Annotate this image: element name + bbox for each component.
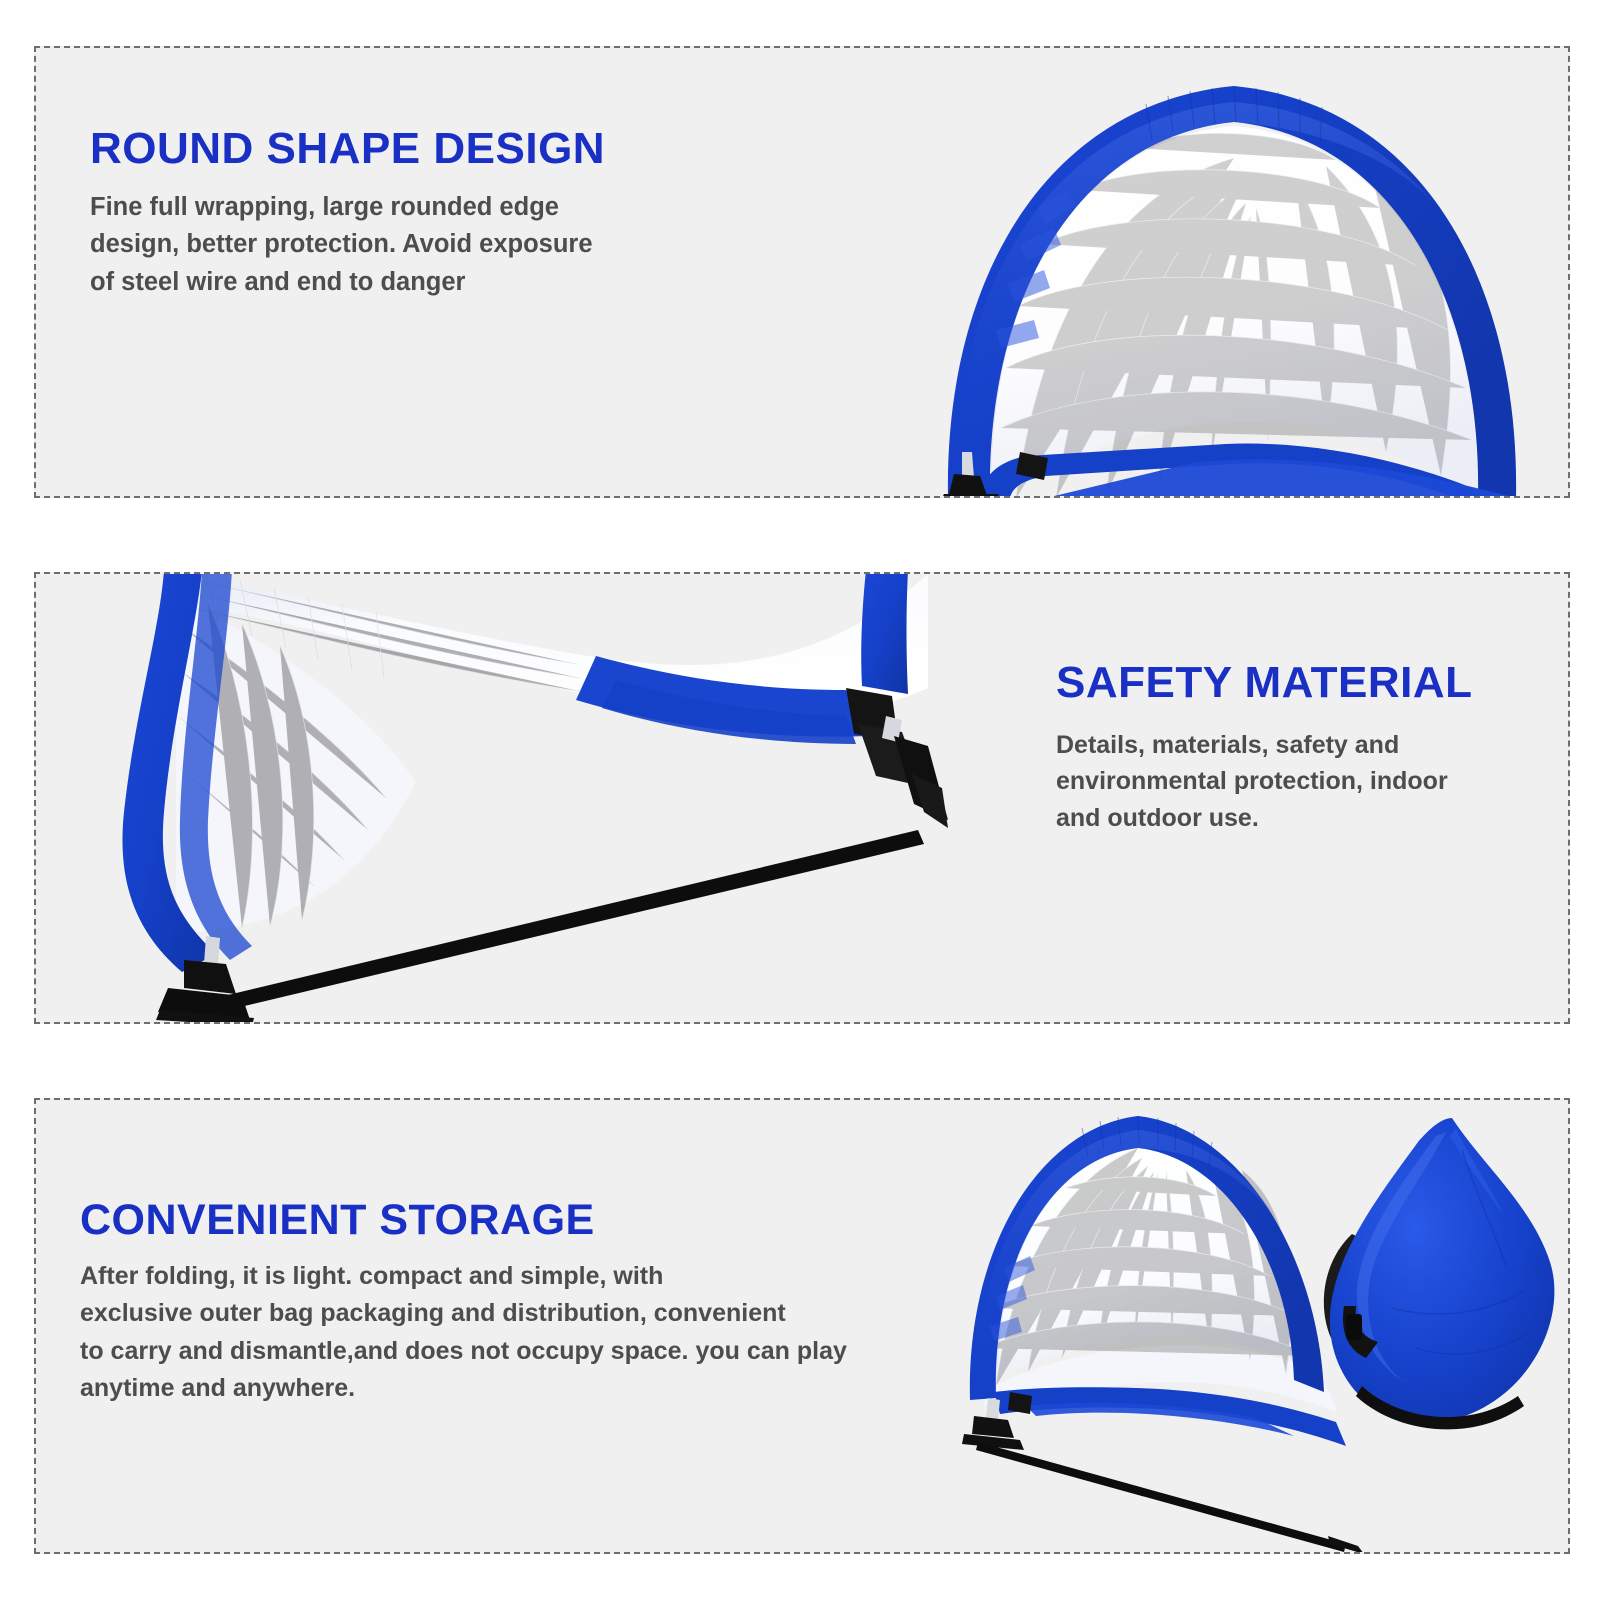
feature-text-convenient-storage: CONVENIENT STORAGE After folding, it is … [80,1198,910,1408]
panel-body: Fine full wrapping, large rounded edge d… [90,189,710,301]
panel-body-line: and outdoor use. [1056,800,1556,837]
panel-body-line: design, better protection. Avoid exposur… [90,226,710,263]
panel-body-line: environmental protection, indoor [1056,763,1556,800]
feature-panel-round-shape-design: ROUND SHAPE DESIGN Fine full wrapping, l… [34,46,1570,498]
panel-body-line: exclusive outer bag packaging and distri… [80,1295,910,1333]
feature-panel-safety-material: SAFETY MATERIAL Details, materials, safe… [34,572,1570,1024]
panel-body-line: anytime and anywhere. [80,1370,910,1408]
panel-body-line: Fine full wrapping, large rounded edge [90,189,710,226]
product-image-goal-front-arch [896,48,1570,498]
product-image-carry-bag [1286,1110,1570,1440]
panel-heading: CONVENIENT STORAGE [80,1198,910,1244]
panel-heading: SAFETY MATERIAL [1056,660,1556,707]
product-image-goal-low-angle [56,572,976,1024]
panel-body-line: to carry and dismantle,and does not occu… [80,1333,910,1371]
feature-text-round-shape-design: ROUND SHAPE DESIGN Fine full wrapping, l… [90,126,710,301]
panel-heading: ROUND SHAPE DESIGN [90,126,710,173]
panel-body: After folding, it is light. compact and … [80,1258,910,1408]
panel-body-line: of steel wire and end to danger [90,264,710,301]
feature-panel-convenient-storage: CONVENIENT STORAGE After folding, it is … [34,1098,1570,1554]
panel-body: Details, materials, safety and environme… [1056,727,1556,837]
panel-body-line: After folding, it is light. compact and … [80,1258,910,1296]
panel-body-line: Details, materials, safety and [1056,727,1556,764]
feature-text-safety-material: SAFETY MATERIAL Details, materials, safe… [1056,660,1556,837]
infographic-page: ROUND SHAPE DESIGN Fine full wrapping, l… [0,0,1600,1600]
